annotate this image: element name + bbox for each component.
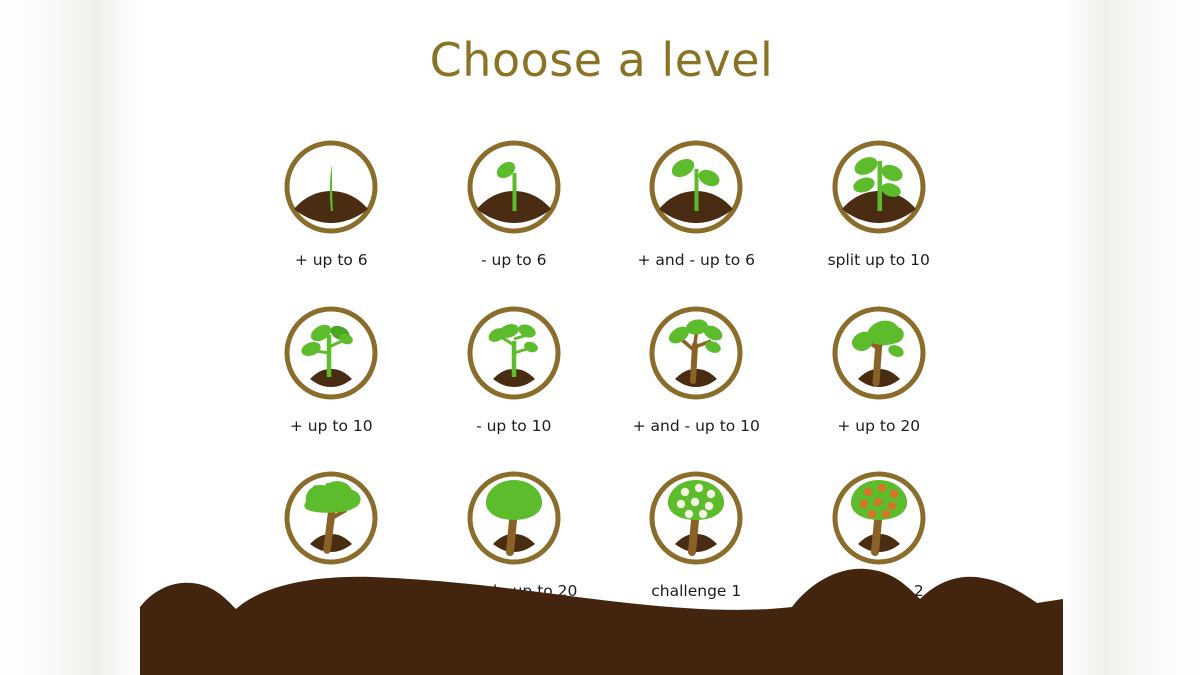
sprout-one-leaf-icon[interactable] [459, 135, 569, 245]
left-gutter [0, 0, 140, 675]
level-tile-level-2[interactable]: - up to 6 [423, 135, 606, 270]
level-label: + up to 10 [290, 417, 373, 436]
seedling-four-leaves-icon[interactable] [824, 135, 934, 245]
level-label: + and - up to 10 [633, 417, 760, 436]
sapling-icon[interactable] [641, 301, 751, 411]
level-tile-level-7[interactable]: + and - up to 10 [605, 301, 788, 436]
leafy-sapling-icon[interactable] [824, 301, 934, 411]
level-label: split up to 10 [828, 251, 930, 270]
level-label: - up to 10 [476, 417, 551, 436]
young-plant-icon[interactable] [276, 301, 386, 411]
level-tile-level-5[interactable]: + up to 10 [240, 301, 423, 436]
slide-canvas: Choose a level + up to 6 - up to 6 + and… [140, 0, 1063, 675]
level-label: + and - up to 6 [638, 251, 755, 270]
level-grid: + up to 6 - up to 6 + and - up to 6 spli… [240, 135, 970, 601]
level-label: + up to 6 [295, 251, 368, 270]
sprout-two-leaves-icon[interactable] [641, 135, 751, 245]
level-tile-level-1[interactable]: + up to 6 [240, 135, 423, 270]
right-gutter [1063, 0, 1200, 675]
level-tile-level-6[interactable]: - up to 10 [423, 301, 606, 436]
level-tile-level-8[interactable]: + up to 20 [788, 301, 971, 436]
ground-soil-decoration [140, 555, 1063, 675]
level-label: + up to 20 [837, 417, 920, 436]
level-tile-level-3[interactable]: + and - up to 6 [605, 135, 788, 270]
sprout-seed-icon[interactable] [276, 135, 386, 245]
level-label: - up to 6 [481, 251, 546, 270]
level-tile-level-4[interactable]: split up to 10 [788, 135, 971, 270]
page-title: Choose a level [140, 33, 1063, 87]
branching-plant-icon[interactable] [459, 301, 569, 411]
